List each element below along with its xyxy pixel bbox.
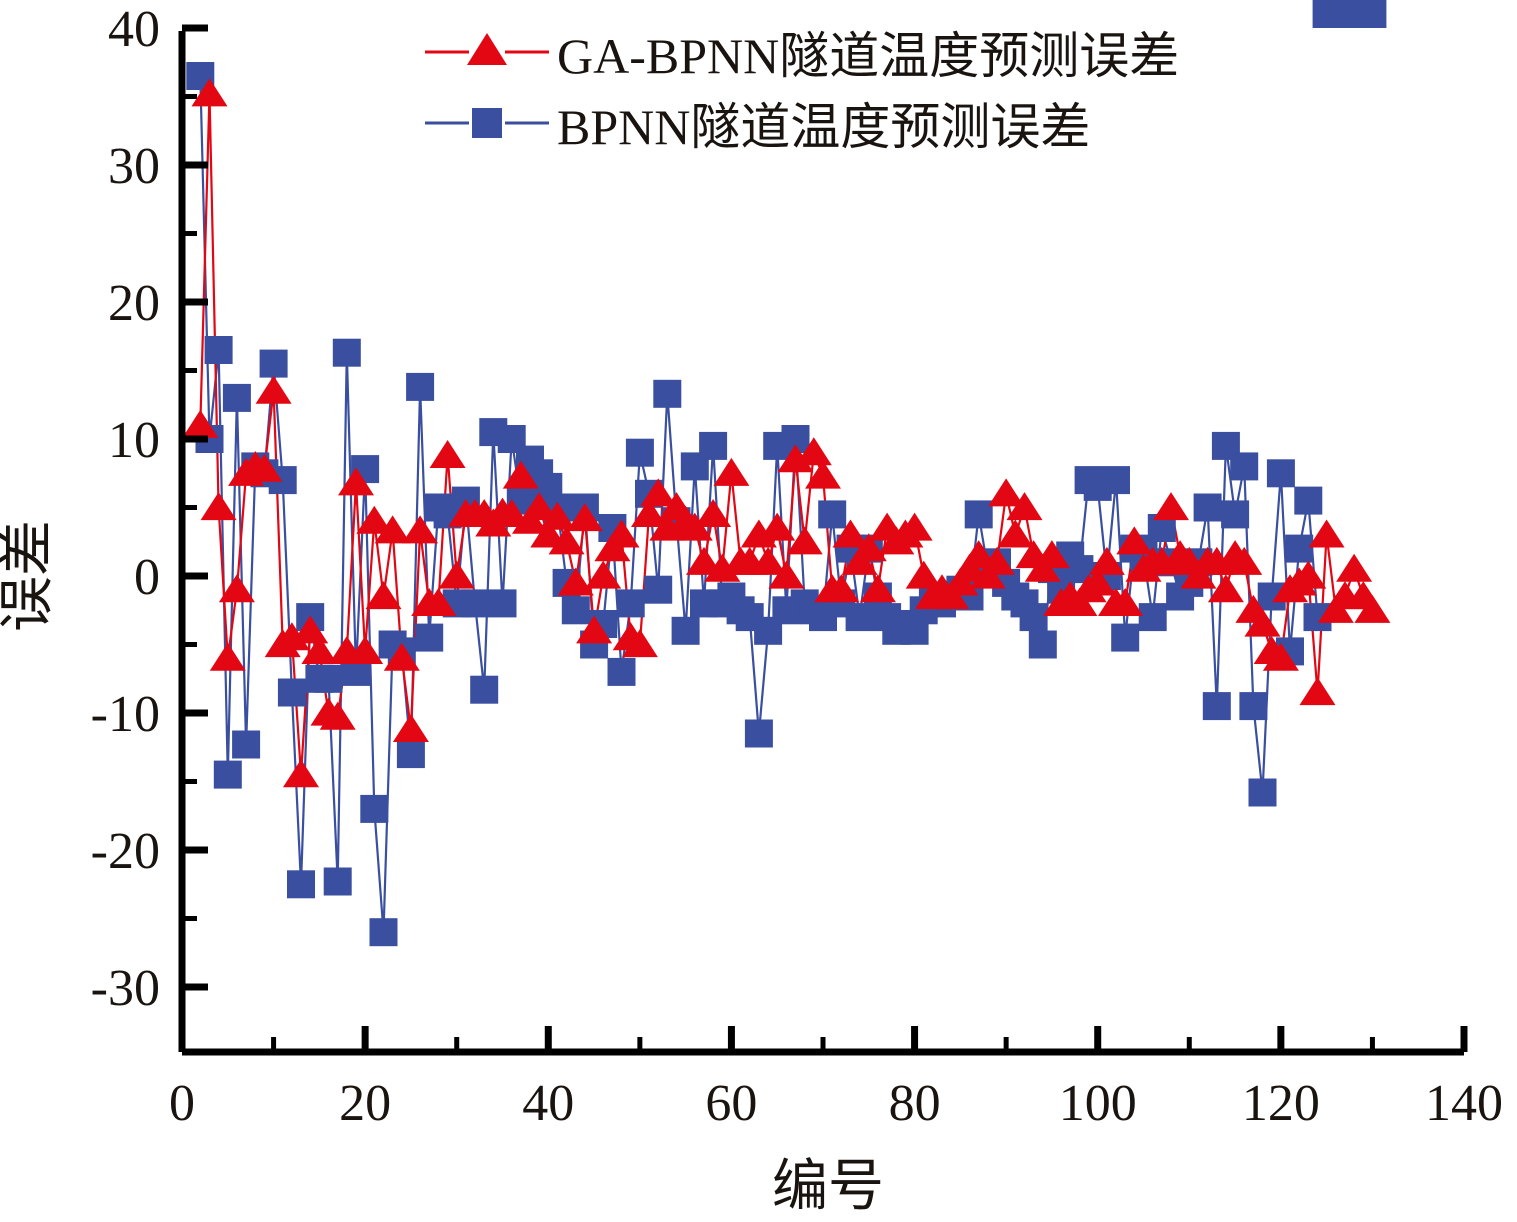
data-point-square xyxy=(1221,500,1249,528)
x-axis-title: 编号 xyxy=(772,1156,884,1218)
data-point-square xyxy=(1230,452,1258,480)
y-tick-label: 30 xyxy=(108,138,160,195)
data-point-square xyxy=(489,589,517,617)
y-tick-label: -10 xyxy=(91,686,160,743)
y-axis-title: 误差 xyxy=(0,520,59,632)
data-point-square xyxy=(397,740,425,768)
data-point-square xyxy=(1029,631,1057,659)
y-tick-label: 40 xyxy=(108,1,160,58)
data-point-square xyxy=(360,795,388,823)
chart-figure: 403020100-10-20-30020406080100120140 GA-… xyxy=(0,0,1517,1222)
data-point-square xyxy=(1239,692,1267,720)
data-point-square xyxy=(470,676,498,704)
data-point-square xyxy=(214,761,242,789)
data-point-square xyxy=(1285,535,1313,563)
data-point-square xyxy=(232,731,260,759)
y-tick-label: 20 xyxy=(108,275,160,332)
data-point-square xyxy=(223,384,251,412)
data-point-square xyxy=(818,500,846,528)
y-tick-label: 0 xyxy=(134,549,160,606)
data-point-square xyxy=(278,679,306,707)
x-tick-label: 140 xyxy=(1425,1075,1503,1132)
data-point-square xyxy=(626,439,654,467)
data-point-square xyxy=(1111,624,1139,652)
data-point-square xyxy=(965,500,993,528)
y-tick-label: 10 xyxy=(108,412,160,469)
data-point-square xyxy=(1102,466,1130,494)
data-point-square xyxy=(608,658,636,686)
data-point-square xyxy=(1203,692,1231,720)
data-point-square xyxy=(1267,459,1295,487)
data-point-square xyxy=(699,432,727,460)
x-tick-label: 60 xyxy=(705,1075,757,1132)
data-point-square xyxy=(644,576,672,604)
data-point-square xyxy=(653,380,681,408)
x-tick-label: 20 xyxy=(339,1075,391,1132)
data-point-square xyxy=(562,596,590,624)
data-point-square xyxy=(1249,779,1277,807)
data-point-square xyxy=(461,589,489,617)
data-point-square xyxy=(745,720,773,748)
x-tick-label: 100 xyxy=(1059,1075,1137,1132)
data-point-square xyxy=(617,589,645,617)
data-point-square xyxy=(324,868,352,896)
data-point-square xyxy=(1194,494,1222,522)
data-point-square xyxy=(370,918,398,946)
legend-marker-square xyxy=(472,108,502,138)
x-tick-label: 40 xyxy=(522,1075,574,1132)
data-point-square xyxy=(287,870,315,898)
data-point-square xyxy=(315,665,343,693)
data-point-square xyxy=(333,339,361,367)
x-tick-label: 80 xyxy=(889,1075,941,1132)
data-point-square xyxy=(1139,603,1167,631)
legend-label: BPNN隧道温度预测误差 xyxy=(557,99,1090,155)
data-point-square xyxy=(672,617,700,645)
data-point-square xyxy=(1294,487,1322,515)
data-point-square xyxy=(260,350,288,378)
x-tick-label: 0 xyxy=(169,1075,195,1132)
y-tick-label: -20 xyxy=(91,823,160,880)
y-tick-label: -30 xyxy=(91,960,160,1017)
data-point-square xyxy=(1358,0,1386,28)
data-point-square xyxy=(415,624,443,652)
data-point-square xyxy=(205,336,233,364)
legend-label: GA-BPNN隧道温度预测误差 xyxy=(557,28,1179,84)
error-comparison-chart: 403020100-10-20-30020406080100120140 GA-… xyxy=(0,0,1517,1222)
x-tick-label: 120 xyxy=(1242,1075,1320,1132)
data-point-square xyxy=(1020,603,1048,631)
data-point-square xyxy=(406,373,434,401)
